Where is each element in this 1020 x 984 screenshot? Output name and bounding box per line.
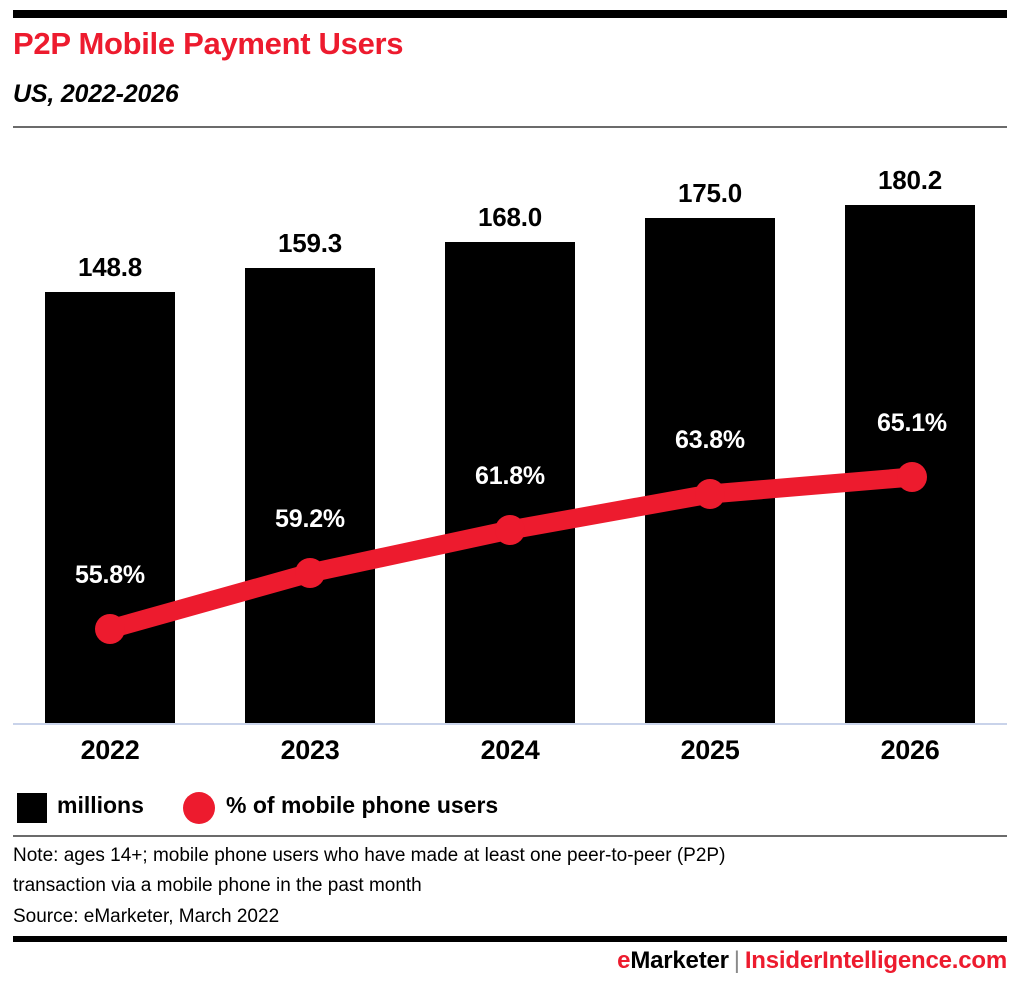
- bar-2023: [245, 268, 375, 723]
- bar-value-label-2023: 159.3: [215, 228, 405, 259]
- bar-2022: [45, 292, 175, 723]
- x-axis-tick-2022: 2022: [15, 735, 205, 766]
- bar-2025: [645, 218, 775, 723]
- bar-value-label-2025: 175.0: [615, 178, 805, 209]
- legend-label-millions: millions: [57, 792, 144, 819]
- chart-page: P2P Mobile Payment Users US, 2022-2026 1…: [0, 0, 1020, 984]
- footer-brand: eMarketer|InsiderIntelligence.com: [617, 947, 1007, 975]
- legend-swatch-percent-icon: [183, 792, 215, 824]
- brand-separator: |: [729, 947, 745, 974]
- brand-marketer: Marketer: [630, 947, 728, 974]
- note-line-1: Note: ages 14+; mobile phone users who h…: [13, 845, 725, 867]
- percent-label-2024: 61.8%: [420, 462, 600, 491]
- note-line-2: transaction via a mobile phone in the pa…: [13, 875, 422, 897]
- notes-divider: [13, 835, 1007, 837]
- bar-value-label-2024: 168.0: [415, 202, 605, 233]
- x-axis-baseline: [13, 723, 1007, 725]
- percent-label-2026: 65.1%: [822, 409, 1002, 438]
- legend-swatch-millions-icon: [17, 793, 47, 823]
- bar-2026: [845, 205, 975, 723]
- x-axis-tick-4: 2026: [815, 735, 1005, 766]
- brand-e: e: [617, 947, 630, 974]
- x-axis-tick-2024: 2024: [415, 735, 605, 766]
- source-line: Source: eMarketer, March 2022: [13, 906, 279, 928]
- x-axis-tick-2023: 2023: [215, 735, 405, 766]
- percent-label-2022: 55.8%: [20, 561, 200, 590]
- percent-label-2023: 59.2%: [220, 505, 400, 534]
- percent-label-2025: 63.8%: [620, 426, 800, 455]
- legend-label-percent: % of mobile phone users: [226, 792, 498, 819]
- brand-site[interactable]: InsiderIntelligence.com: [745, 947, 1007, 974]
- bar-value-label-2026: 180.2: [815, 165, 1005, 196]
- footer-divider: [13, 936, 1007, 942]
- bar-value-label-2022: 148.8: [15, 252, 205, 283]
- x-axis-tick-2025: 2025: [615, 735, 805, 766]
